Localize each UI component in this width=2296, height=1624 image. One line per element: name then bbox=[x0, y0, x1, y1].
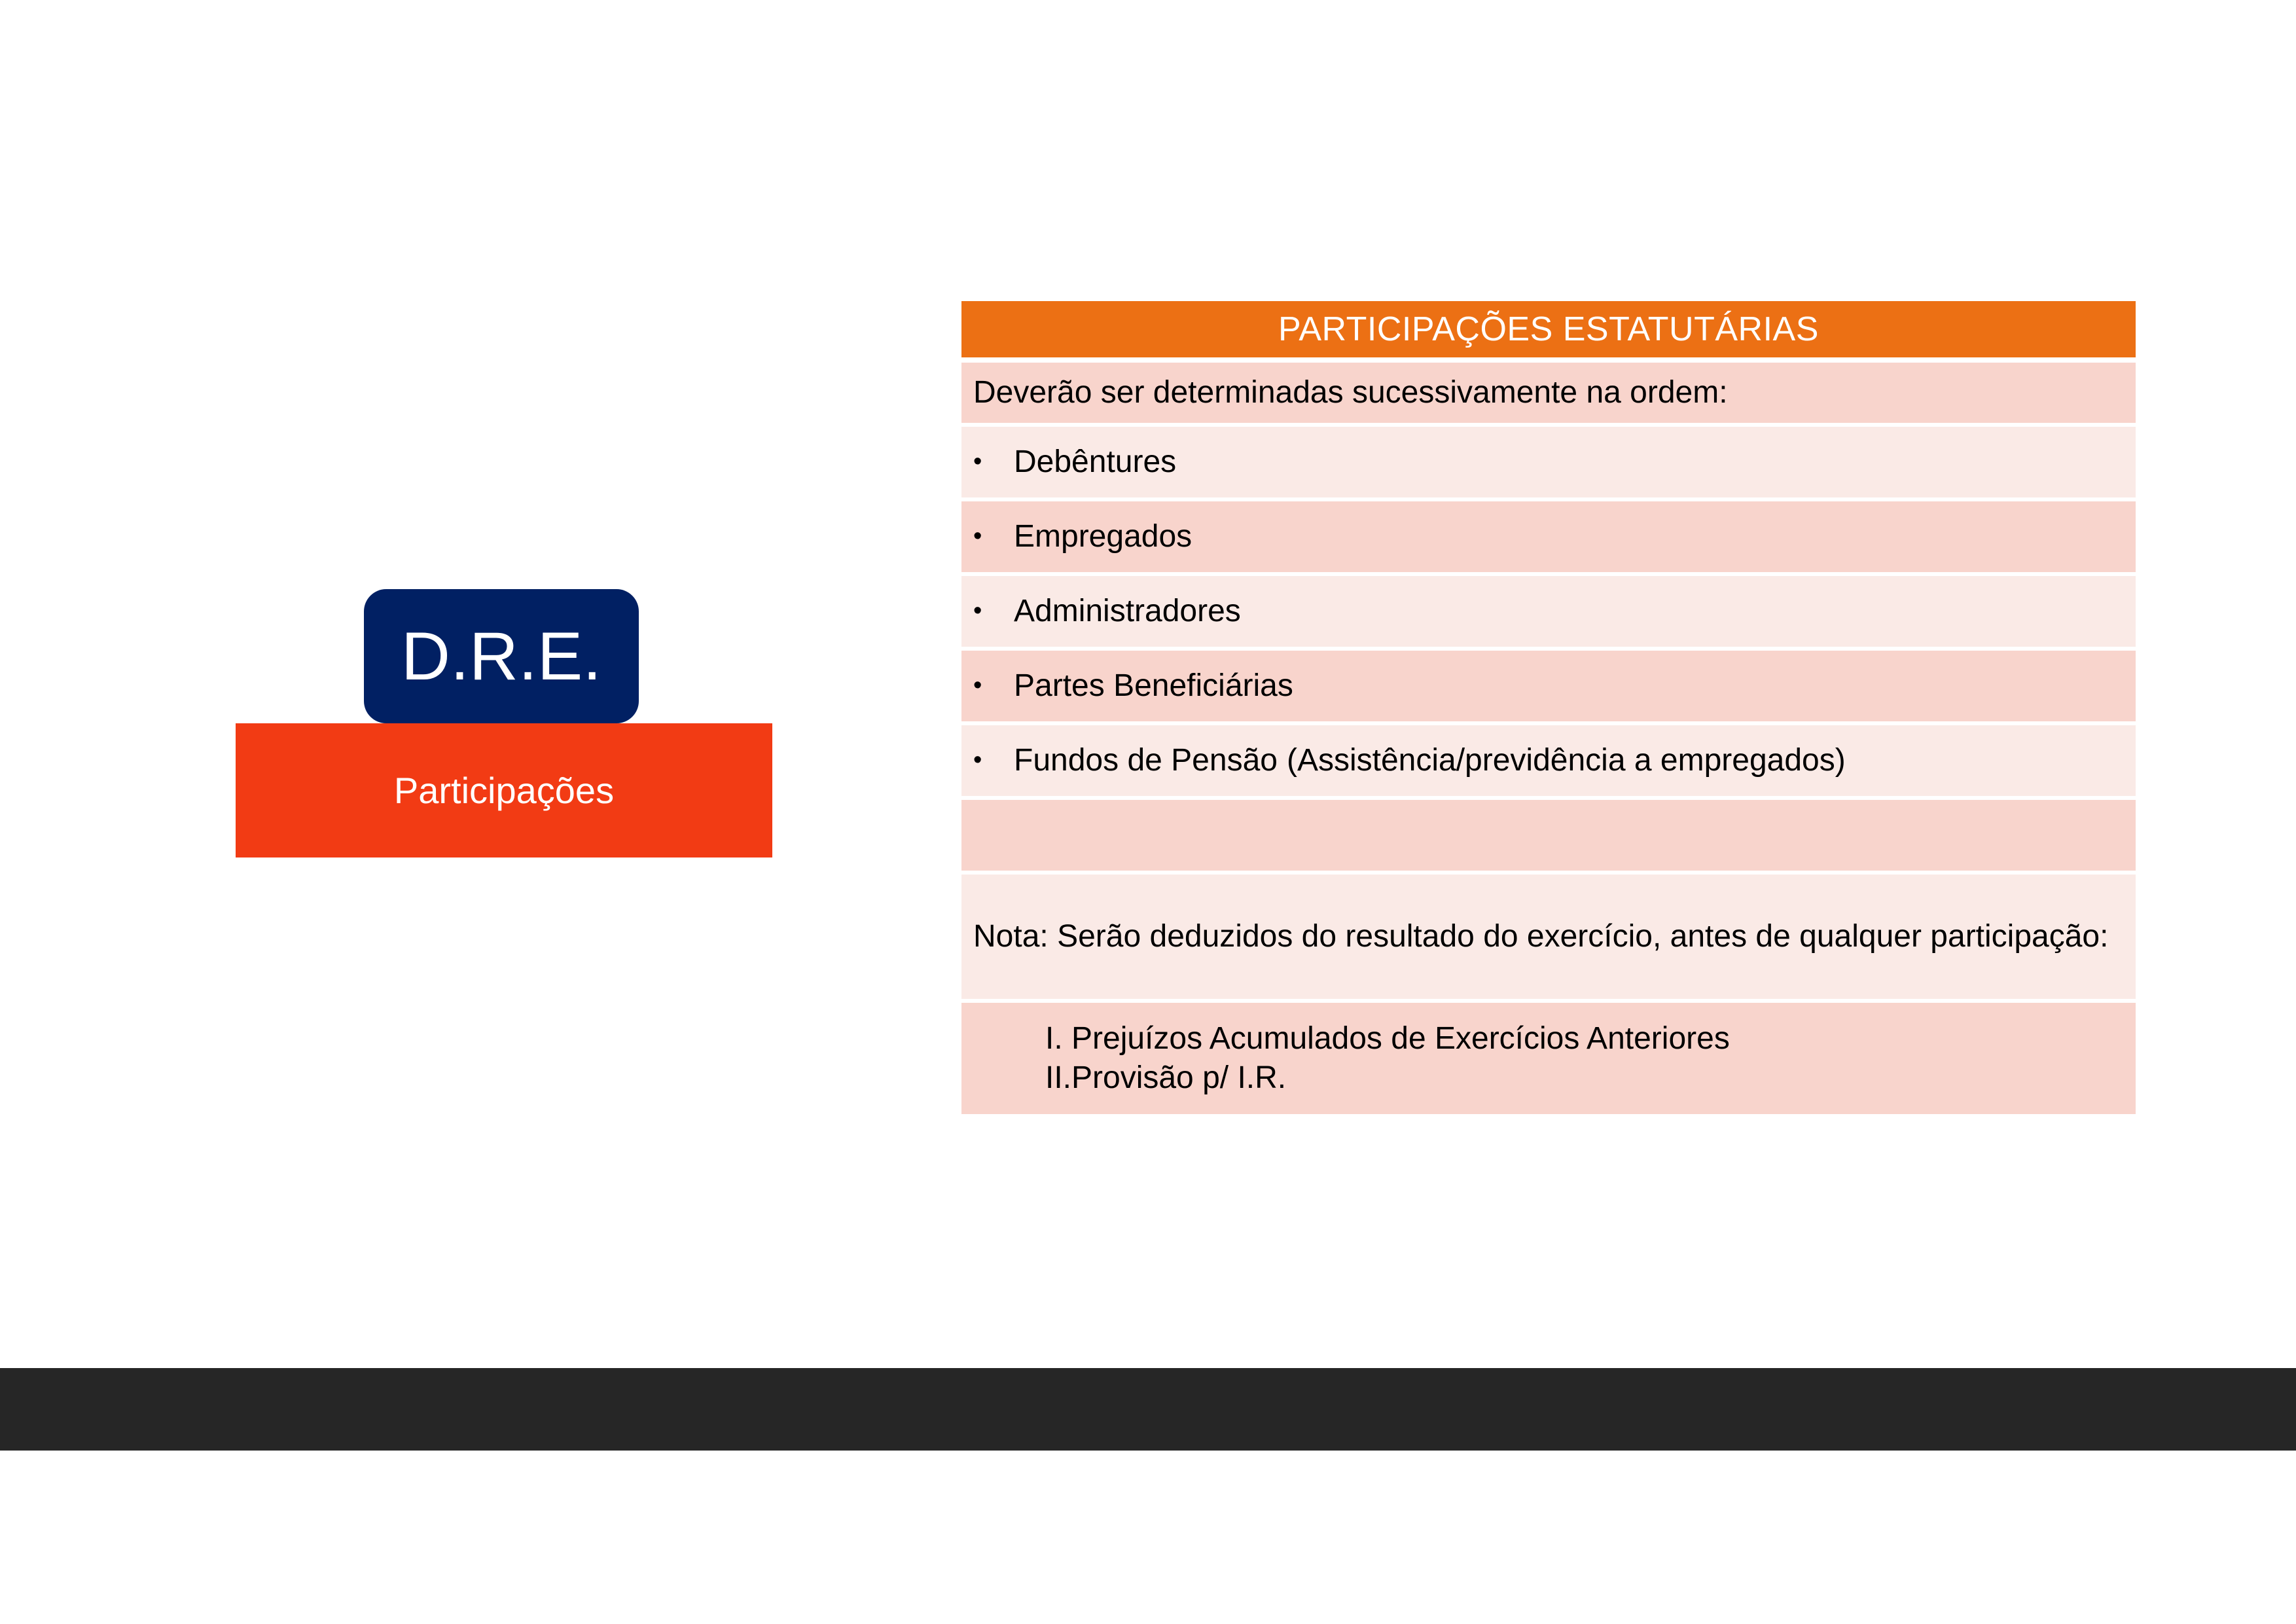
slide-canvas: D.R.E. Participações PARTICIPAÇÕES ESTAT… bbox=[0, 0, 2296, 1624]
table-row-nota: Nota: Serão deduzidos do resultado do ex… bbox=[961, 875, 2136, 999]
bullet-label: Administradores bbox=[1014, 595, 1241, 628]
table-row-empty bbox=[961, 800, 2136, 871]
bullet-label: Fundos de Pensão bbox=[1014, 744, 1278, 777]
table-row: • Fundos de Pensão (Assistência/previdên… bbox=[961, 725, 2136, 796]
intro-text: Deverão ser determinadas sucessivamente … bbox=[973, 376, 1728, 409]
bullet-note: (Assistência/previdência a empregados) bbox=[1278, 744, 1846, 777]
table-row-roman-list: I. Prejuízos Acumulados de Exercícios An… bbox=[961, 1003, 2136, 1114]
roman-item-label: Provisão p/ I.R. bbox=[1071, 1058, 1286, 1098]
roman-numeral: I. bbox=[973, 1019, 1071, 1058]
bullet-icon: • bbox=[973, 524, 1014, 549]
bullet-icon: • bbox=[973, 748, 1014, 772]
bullet-label: Debêntures bbox=[1014, 446, 1176, 478]
dre-badge: D.R.E. bbox=[364, 589, 639, 723]
bottom-bar bbox=[0, 1368, 2296, 1451]
bullet-icon: • bbox=[973, 598, 1014, 623]
nota-text: Serão deduzidos do resultado do exercíci… bbox=[1049, 919, 2109, 954]
bullet-icon: • bbox=[973, 673, 1014, 698]
list-item: I. Prejuízos Acumulados de Exercícios An… bbox=[973, 1019, 1730, 1058]
dre-badge-group: D.R.E. Participações bbox=[236, 589, 772, 857]
table-row: • Empregados bbox=[961, 501, 2136, 572]
table-row: • Debêntures bbox=[961, 427, 2136, 497]
table-row-intro: Deverão ser determinadas sucessivamente … bbox=[961, 363, 2136, 423]
table-row: • Partes Beneficiárias bbox=[961, 651, 2136, 721]
table-row: • Administradores bbox=[961, 576, 2136, 647]
table-header-title: PARTICIPAÇÕES ESTATUTÁRIAS bbox=[1278, 312, 1819, 346]
bullet-label: Partes Beneficiárias bbox=[1014, 670, 1293, 702]
participacoes-block: Participações bbox=[236, 723, 772, 857]
bullet-icon: • bbox=[973, 449, 1014, 474]
roman-item-label: Prejuízos Acumulados de Exercícios Anter… bbox=[1071, 1019, 1730, 1058]
bullet-label: Empregados bbox=[1014, 520, 1192, 553]
nota-label: Nota: bbox=[973, 919, 1049, 954]
table-header-row: PARTICIPAÇÕES ESTATUTÁRIAS bbox=[961, 301, 2136, 357]
participacoes-table: PARTICIPAÇÕES ESTATUTÁRIAS Deverão ser d… bbox=[961, 301, 2136, 1114]
participacoes-label: Participações bbox=[394, 772, 614, 809]
dre-badge-title: D.R.E. bbox=[401, 623, 601, 691]
roman-numeral: II. bbox=[973, 1058, 1071, 1098]
list-item: II. Provisão p/ I.R. bbox=[973, 1058, 1730, 1098]
